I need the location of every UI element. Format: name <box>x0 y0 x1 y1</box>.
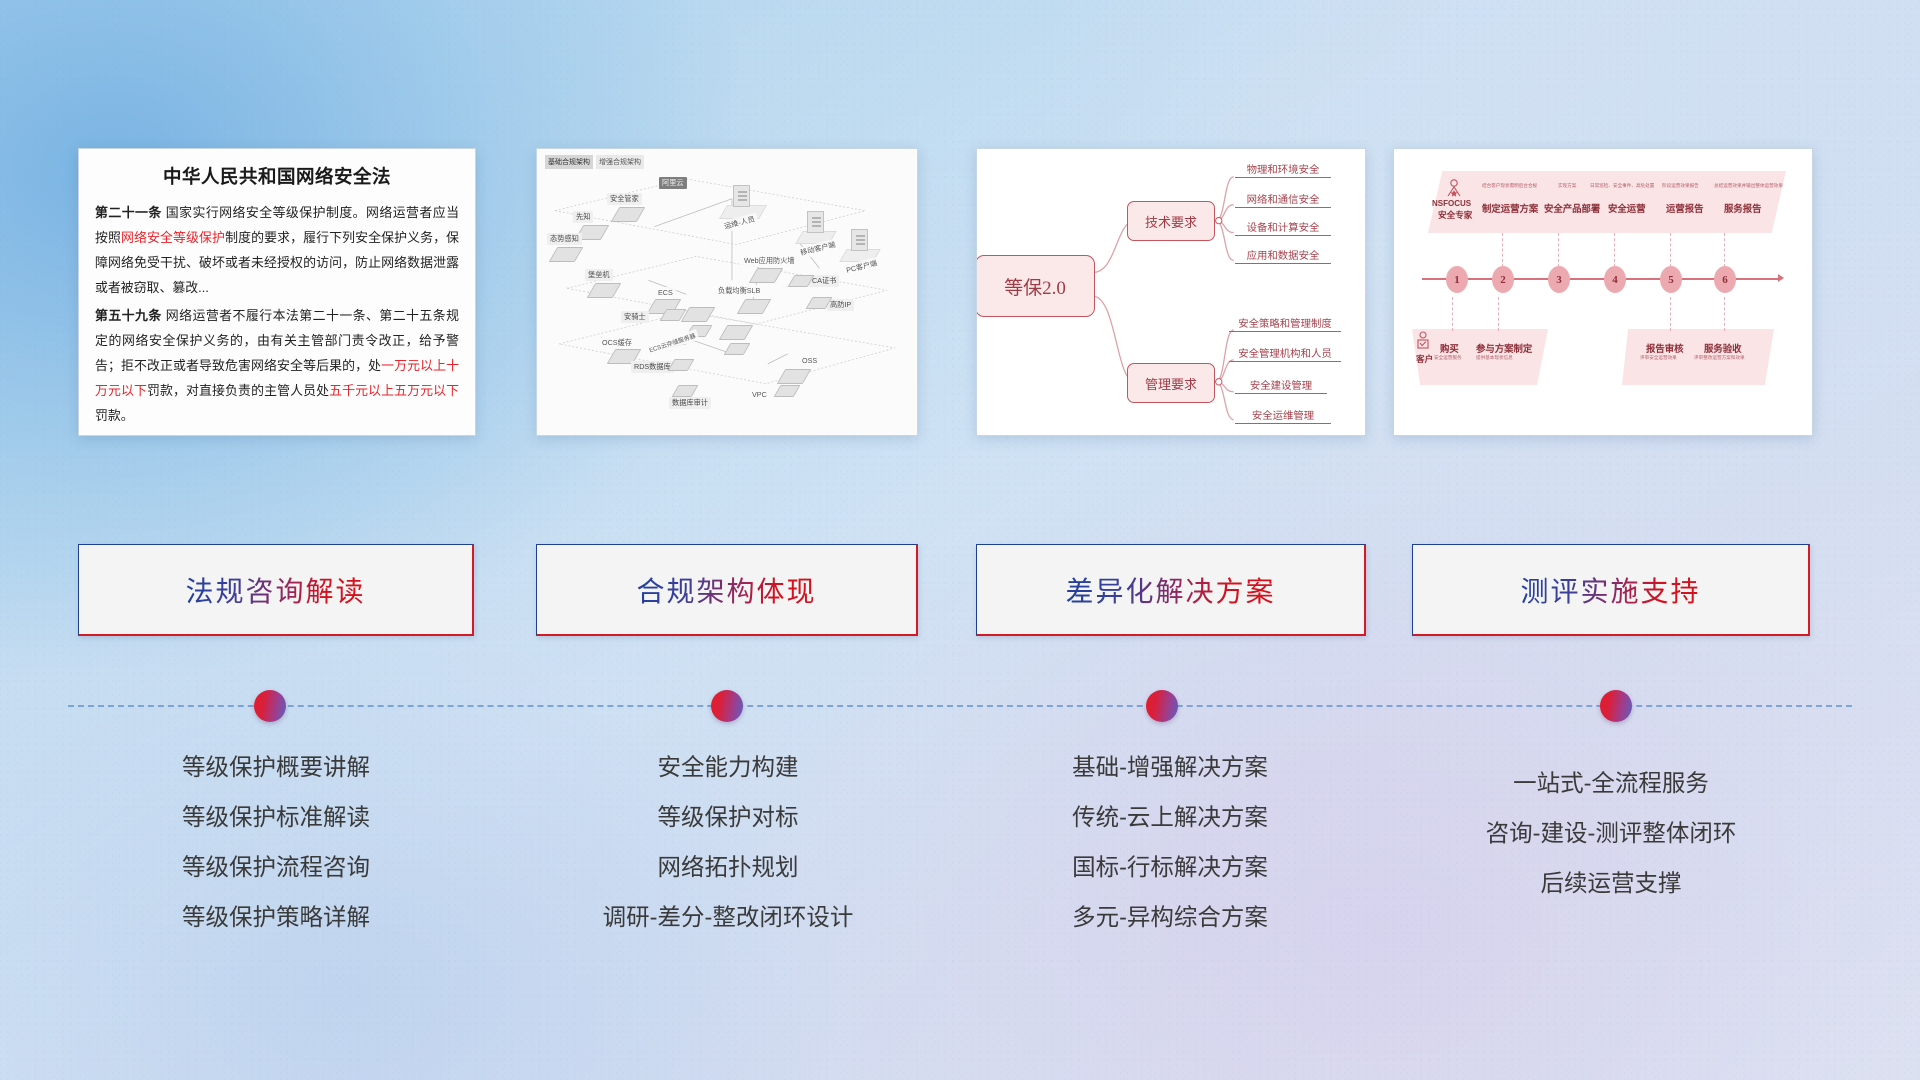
flow-stem-c4 <box>1724 297 1725 331</box>
node-ca-certificate-label: CA证书 <box>809 275 839 287</box>
customer-label: 客户 <box>1416 353 1433 365</box>
flow-customer3-sub: 评审安全运营效果 <box>1640 355 1677 361</box>
mindmap-leaf-org-personnel: 安全管理机构和人员 <box>1229 345 1341 362</box>
article-59-highlight-2: 五千元以上五万元以下 <box>329 383 459 398</box>
node-situation-awareness-label: 态势感知 <box>547 233 582 245</box>
flow-dot-5[interactable]: 5 <box>1660 266 1682 293</box>
expert-label-line1: NSFOCUS <box>1432 199 1471 208</box>
expert-label-line2: 安全专家 <box>1438 209 1472 221</box>
law-article-59: 第五十九条 网络运营者不履行本法第二十一条、第二十五条规定的网络安全保护义务的，… <box>95 303 459 429</box>
article-21-label: 第二十一条 <box>95 205 162 220</box>
flow-customer2-title: 参与方案制定 <box>1476 341 1532 355</box>
node-ecs-label: ECS <box>655 287 676 298</box>
node-vpc-label: VPC <box>749 389 770 400</box>
mindmap-leaf-policy-system: 安全策略和管理制度 <box>1229 315 1341 332</box>
headline-row: 法规咨询解读 合规架构体现 差异化解决方案 测评实施支持 <box>0 544 1920 640</box>
node-bastion-host-label: 堡垒机 <box>585 269 613 281</box>
flow-step5-title: 运营报告 <box>1666 201 1704 215</box>
mindmap-leaf-network-comm: 网络和通信安全 <box>1235 191 1331 208</box>
customer-person-icon <box>1416 331 1430 351</box>
list-item: 国标-行标解决方案 <box>972 842 1368 892</box>
flow-customer4-title: 服务验收 <box>1704 341 1742 355</box>
flow-customer1-title: 购买 <box>1440 341 1459 355</box>
detail-list-4: 一站式-全流程服务 咨询-建设-测评整体闭环 后续运营支撑 <box>1410 758 1812 908</box>
flow-customer3-title: 报告审核 <box>1646 341 1684 355</box>
headline-box-2[interactable]: 合规架构体现 <box>536 544 918 636</box>
article-59-label: 第五十九条 <box>95 308 162 323</box>
mindmap-leaf-physical-env: 物理和环境安全 <box>1235 161 1331 178</box>
flow-dot-6[interactable]: 6 <box>1714 266 1736 293</box>
node-ocs-cache-label: OCS缓存 <box>599 337 635 349</box>
list-item: 等级保护对标 <box>530 792 926 842</box>
node-web-firewall-label: Web应用防火墙 <box>741 255 798 267</box>
flow-customer1-sub: 安全运营服务 <box>1434 355 1462 361</box>
mindmap-leaf-app-data: 应用和数据安全 <box>1235 247 1331 264</box>
service-flow-diagram: NSFOCUS 安全专家 结合客户现状需明后台合规 制定运营方案 实现方案 安全… <box>1394 149 1812 435</box>
detail-list-3: 基础-增强解决方案 传统-云上解决方案 国标-行标解决方案 多元-异构综合方案 <box>972 742 1368 942</box>
node-aliyun-label: 阿里云 <box>659 177 687 189</box>
card-mindmap-dengbao: 等保2.0 技术要求 管理要求 物理和环境安全 网络和通信安全 设备和计算安全 … <box>976 148 1366 436</box>
image-cards-row: 中华人民共和国网络安全法 第二十一条 国家实行网络安全等级保护制度。网络运营者应… <box>0 148 1920 440</box>
node-db-audit-label: 数据库审计 <box>669 397 711 409</box>
article-21-highlight: 网络安全等级保护 <box>121 230 225 245</box>
mindmap-branch-technical: 技术要求 <box>1127 201 1215 241</box>
headline-label-2: 合规架构体现 <box>636 570 816 610</box>
list-item: 等级保护概要讲解 <box>78 742 474 792</box>
flow-step4-sub: 日常巡检、安全事件、高危处置 <box>1590 183 1654 189</box>
card-service-flow: NSFOCUS 安全专家 结合客户现状需明后台合规 制定运营方案 实现方案 安全… <box>1393 148 1813 436</box>
node-oss-label: OSS <box>799 355 820 366</box>
node-anqishi-label: 安骑士 <box>621 311 649 323</box>
flow-step6-title: 服务报告 <box>1724 201 1762 215</box>
mindmap-leaf-device-compute: 设备和计算安全 <box>1235 219 1331 236</box>
headline-box-1[interactable]: 法规咨询解读 <box>78 544 474 636</box>
flow-dot-4[interactable]: 4 <box>1604 266 1626 293</box>
detail-list-2: 安全能力构建 等级保护对标 网络拓扑规划 调研-差分-整改闭环设计 <box>530 742 926 942</box>
list-item: 多元-异构综合方案 <box>972 892 1368 942</box>
node-anti-ddos-ip-label: 高防IP <box>827 299 854 311</box>
list-item: 传统-云上解决方案 <box>972 792 1368 842</box>
list-item: 安全能力构建 <box>530 742 926 792</box>
mindmap-root: 等保2.0 <box>976 255 1095 317</box>
headline-label-4: 测评实施支持 <box>1520 570 1700 610</box>
timeline-node-3[interactable] <box>1146 690 1178 722</box>
flow-step2-title: 制定运营方案 <box>1482 201 1538 215</box>
flow-step3-sub: 实现方案 <box>1558 183 1576 189</box>
architecture-diagram: 基础合规架构 增强合规架构 <box>537 149 917 435</box>
list-item: 后续运营支撑 <box>1410 858 1812 908</box>
flow-step4-title: 安全运营 <box>1608 201 1646 215</box>
headline-box-4[interactable]: 测评实施支持 <box>1412 544 1810 636</box>
flow-stem-c2 <box>1498 297 1499 331</box>
article-59-text-b: 罚款，对直接负责的主管人员处 <box>147 383 329 398</box>
flow-arrow-icon <box>1778 274 1784 282</box>
flow-dot-2[interactable]: 2 <box>1492 266 1514 293</box>
flow-stem-6 <box>1724 233 1725 267</box>
flow-customer4-sub: 评审整改运营方案和效果 <box>1694 355 1745 361</box>
expert-person-icon <box>1446 179 1462 197</box>
flow-step3-title: 安全产品部署 <box>1544 201 1600 215</box>
law-text-body: 中华人民共和国网络安全法 第二十一条 国家实行网络安全等级保护制度。网络运营者应… <box>79 149 475 436</box>
list-item: 网络拓扑规划 <box>530 842 926 892</box>
timeline-dashed-line <box>68 705 1852 707</box>
list-item: 基础-增强解决方案 <box>972 742 1368 792</box>
article-59-text-c: 罚款。 <box>95 408 134 423</box>
timeline <box>0 684 1920 728</box>
list-item: 咨询-建设-测评整体闭环 <box>1410 808 1812 858</box>
mindmap-leaf-construction-mgmt: 安全建设管理 <box>1235 377 1327 394</box>
headline-label-3: 差异化解决方案 <box>1065 570 1275 610</box>
mindmap-leaf-ops-mgmt: 安全运维管理 <box>1235 407 1331 424</box>
detail-lists-row: 等级保护概要讲解 等级保护标准解读 等级保护流程咨询 等级保护策略详解 安全能力… <box>0 742 1920 972</box>
flow-step2-sub: 结合客户现状需明后台合规 <box>1482 183 1537 189</box>
list-item: 一站式-全流程服务 <box>1410 758 1812 808</box>
node-slb-label: 负载均衡SLB <box>715 285 763 297</box>
flow-stem-4 <box>1614 233 1615 267</box>
flow-customer2-sub: 提供基本现状信息 <box>1476 355 1513 361</box>
card-cybersecurity-law: 中华人民共和国网络安全法 第二十一条 国家实行网络安全等级保护制度。网络运营者应… <box>78 148 476 436</box>
timeline-node-2[interactable] <box>711 690 743 722</box>
card-compliance-architecture: 基础合规架构 增强合规架构 <box>536 148 918 436</box>
list-item: 等级保护流程咨询 <box>78 842 474 892</box>
timeline-node-1[interactable] <box>254 690 286 722</box>
headline-box-3[interactable]: 差异化解决方案 <box>976 544 1366 636</box>
node-rds-database-label: RDS数据库 <box>631 361 674 373</box>
flow-step6-sub: 总结运营效果并输出整体运营效果 <box>1714 183 1783 189</box>
flow-dot-3[interactable]: 3 <box>1548 266 1570 293</box>
timeline-node-4[interactable] <box>1600 690 1632 722</box>
list-item: 调研-差分-整改闭环设计 <box>530 892 926 942</box>
node-xianzhi-label: 先知 <box>573 211 593 223</box>
flow-stem-5 <box>1670 233 1671 267</box>
mindmap-branch-management: 管理要求 <box>1127 363 1215 403</box>
mindmap: 等保2.0 技术要求 管理要求 物理和环境安全 网络和通信安全 设备和计算安全 … <box>977 149 1365 435</box>
node-security-steward-label: 安全管家 <box>607 193 642 205</box>
detail-list-1: 等级保护概要讲解 等级保护标准解读 等级保护流程咨询 等级保护策略详解 <box>78 742 474 942</box>
flow-stem-c3 <box>1670 297 1671 331</box>
flow-stem-c1 <box>1452 297 1453 331</box>
list-item: 等级保护策略详解 <box>78 892 474 942</box>
flow-step5-sub: 阶段运营效果报告 <box>1662 183 1699 189</box>
flow-dot-1[interactable]: 1 <box>1446 266 1468 293</box>
headline-label-1: 法规咨询解读 <box>185 570 365 610</box>
list-item: 等级保护标准解读 <box>78 792 474 842</box>
law-title: 中华人民共和国网络安全法 <box>95 163 459 189</box>
flow-stem-2 <box>1502 233 1503 267</box>
law-article-21: 第二十一条 国家实行网络安全等级保护制度。网络运营者应当按照网络安全等级保护制度… <box>95 200 459 301</box>
flow-stem-3 <box>1558 233 1559 267</box>
